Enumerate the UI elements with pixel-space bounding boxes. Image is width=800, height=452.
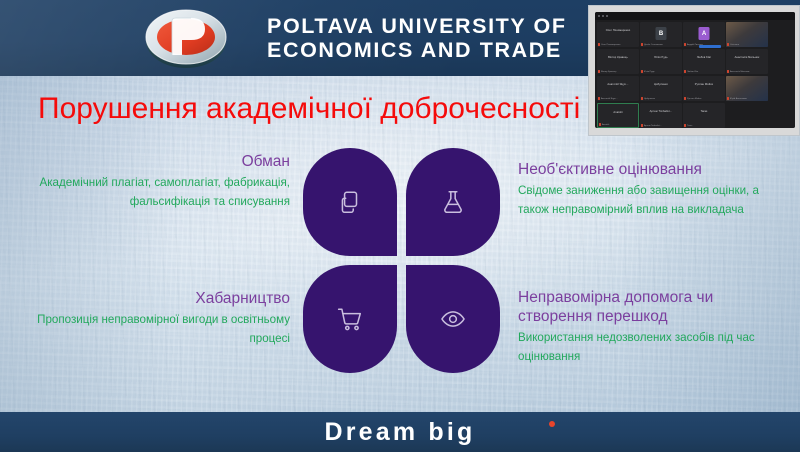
microphone-muted-icon — [684, 97, 686, 100]
block-khabarnytstvo-body: Пропозиція неправомірної вигоди в освітн… — [28, 311, 290, 348]
microphone-muted-icon — [641, 124, 643, 127]
participant-name-badge: Світлана — [727, 43, 739, 46]
participant-badge-label: Олег Пономаренко — [601, 44, 620, 46]
participant-name-badge: Олег Пономаренко — [598, 43, 620, 46]
participant-display-name: Руслан Мойсе — [683, 83, 725, 86]
participant-badge-label: Віктор Кравець — [601, 71, 616, 73]
participant-tile[interactable]: Юлія РудьЮлія Рудь — [640, 49, 682, 74]
participant-badge-label: Любов Klar — [687, 71, 698, 73]
window-controls-icon[interactable] — [598, 15, 608, 17]
participant-display-name: Анатолій Яцук… — [597, 83, 639, 86]
block-nepravomirna-body: Використання недозволених засобів під ча… — [518, 329, 786, 366]
participant-tile[interactable]: Анатолій Яцук…Анатолій Яцук… — [597, 76, 639, 101]
participant-tile[interactable]: Світлана — [726, 22, 768, 47]
block-khabarnytstvo: Хабарництво Пропозиція неправомірної виг… — [28, 289, 290, 348]
participant-grid: Олег ПономаренкоОлег ПономаренкоВДанііл … — [597, 22, 769, 128]
speaking-indicator-chip — [699, 45, 721, 48]
participant-name-badge: Taras — [684, 124, 692, 127]
participant-display-name: Юлія Рудь — [640, 56, 682, 59]
video-window-titlebar[interactable] — [595, 12, 795, 20]
participant-badge-label: Taras — [687, 125, 692, 127]
microphone-muted-icon — [684, 70, 686, 73]
microphone-muted-icon — [684, 124, 686, 127]
block-neobjektyvne-body: Свідоме заниження або завищення оцінки, … — [518, 182, 788, 219]
participant-badge-label: Анастасія Мельник — [730, 71, 749, 73]
video-sidebar-panel — [771, 22, 795, 128]
participant-display-name: Артем Timbalist… — [640, 110, 682, 113]
participant-display-name: Цибуленко — [640, 83, 682, 86]
flask-icon — [440, 189, 466, 215]
university-name-line-2: ECONOMICS AND TRADE — [267, 38, 567, 62]
participant-tile[interactable]: TarasTaras — [683, 103, 725, 128]
participant-badge-label: Anatolii — [602, 124, 609, 126]
participant-avatar: В — [656, 27, 667, 40]
slide-footer: Dream big — [0, 412, 800, 452]
poltava-university-logo — [145, 8, 227, 70]
footer-slogan: Dream big — [324, 418, 475, 447]
petal-neobjektyvne[interactable] — [406, 148, 500, 256]
microphone-muted-icon — [641, 97, 643, 100]
microphone-muted-icon — [727, 43, 729, 46]
participant-display-name: Олег Пономаренко — [597, 29, 639, 32]
participant-badge-label: Данііл Степаненко — [644, 44, 663, 46]
participant-name-badge: Руслан Мойсе — [684, 97, 702, 100]
participant-badge-label: Артем Timbalist… — [644, 125, 662, 127]
participant-tile[interactable]: AnatoliiAnatolii — [597, 103, 639, 128]
participant-badge-label: Юрій Автономов — [730, 98, 747, 100]
participant-display-name: Anatolii — [598, 111, 638, 114]
microphone-muted-icon — [727, 70, 729, 73]
participant-tile[interactable]: Віктор КравецьВіктор Кравець — [597, 49, 639, 74]
microphone-muted-icon — [598, 43, 600, 46]
block-nepravomirna-heading: Неправомірна допомога чи створення переш… — [518, 288, 786, 326]
participant-name-badge: Віктор Кравець — [598, 70, 616, 73]
block-nepravomirna-dopomoha: Неправомірна допомога чи створення переш… — [518, 288, 786, 366]
participant-tile[interactable]: ВДанііл Степаненко — [640, 22, 682, 47]
participant-tile[interactable]: ААндрій Лисенко — [683, 22, 725, 47]
background-vignette-left — [0, 75, 180, 415]
block-obman-heading: Обман — [28, 152, 290, 171]
page-title: Порушення академічної доброчесності — [38, 92, 658, 126]
block-obman: Обман Академічний плагіат, самоплагіат, … — [28, 152, 290, 211]
participant-badge-label: Цибуленко — [644, 98, 655, 100]
microphone-muted-icon — [727, 97, 729, 100]
participant-name-badge: Любов Klar — [684, 70, 698, 73]
petal-nepravomirna[interactable] — [406, 265, 500, 373]
microphone-muted-icon — [599, 123, 601, 126]
block-khabarnytstvo-heading: Хабарництво — [28, 289, 290, 308]
university-name: POLTAVA UNIVERSITY OF ECONOMICS AND TRAD… — [267, 14, 567, 62]
participant-name-badge: Цибуленко — [641, 97, 655, 100]
participant-tile[interactable]: Руслан МойсеРуслан Мойсе — [683, 76, 725, 101]
participant-tile[interactable]: Анастасія МельникАнастасія Мельник — [726, 49, 768, 74]
block-obman-body: Академічний плагіат, самоплагіат, фабрик… — [28, 174, 290, 211]
microphone-muted-icon — [598, 70, 600, 73]
participant-avatar: А — [699, 27, 710, 40]
participant-display-name: Віктор Кравець — [597, 56, 639, 59]
participant-display-name: Любов Klar — [683, 56, 725, 59]
participant-tile[interactable]: Любов KlarЛюбов Klar — [683, 49, 725, 74]
participant-display-name: Анастасія Мельник — [726, 56, 768, 59]
video-conference-overlay[interactable]: Олег ПономаренкоОлег ПономаренкоВДанііл … — [588, 5, 800, 136]
participant-display-name: Taras — [683, 110, 725, 113]
copy-documents-icon — [337, 189, 363, 215]
participant-name-badge: Юрій Автономов — [727, 97, 747, 100]
slogan-accent-dot — [549, 421, 555, 427]
participant-name-badge: Юлія Рудь — [641, 70, 655, 73]
university-name-line-1: POLTAVA UNIVERSITY OF — [267, 14, 567, 38]
microphone-muted-icon — [641, 43, 643, 46]
petal-obman[interactable] — [303, 148, 397, 256]
petal-diagram — [303, 148, 500, 373]
participant-badge-label: Руслан Мойсе — [687, 98, 702, 100]
block-neobjektyvne-heading: Необ'єктивне оцінювання — [518, 160, 788, 179]
participant-tile[interactable]: Артем Timbalist…Артем Timbalist… — [640, 103, 682, 128]
participant-tile[interactable]: Юрій Автономов — [726, 76, 768, 101]
participant-name-badge: Артем Timbalist… — [641, 124, 662, 127]
microphone-muted-icon — [641, 70, 643, 73]
block-neobjektyvne-otsiniuvannia: Необ'єктивне оцінювання Свідоме заниженн… — [518, 160, 788, 219]
footer-slogan-text: Dream big — [324, 418, 475, 446]
microphone-muted-icon — [598, 97, 600, 100]
participant-badge-label: Світлана — [730, 44, 739, 46]
participant-name-badge: Данііл Степаненко — [641, 43, 663, 46]
participant-tile[interactable]: Олег ПономаренкоОлег Пономаренко — [597, 22, 639, 47]
presentation-slide: POLTAVA UNIVERSITY OF ECONOMICS AND TRAD… — [0, 0, 800, 452]
participant-badge-label: Юлія Рудь — [644, 71, 655, 73]
petal-khabarnytstvo[interactable] — [303, 265, 397, 373]
video-conference-window[interactable]: Олег ПономаренкоОлег ПономаренкоВДанііл … — [595, 12, 795, 128]
participant-name-badge: Anatolii — [599, 123, 609, 126]
microphone-muted-icon — [684, 43, 686, 46]
shopping-cart-icon — [337, 306, 363, 332]
participant-name-badge: Анатолій Яцук… — [598, 97, 618, 100]
participant-badge-label: Анатолій Яцук… — [601, 98, 618, 100]
participant-name-badge: Анастасія Мельник — [727, 70, 749, 73]
participant-tile[interactable]: ЦибуленкоЦибуленко — [640, 76, 682, 101]
eye-icon — [440, 306, 466, 332]
